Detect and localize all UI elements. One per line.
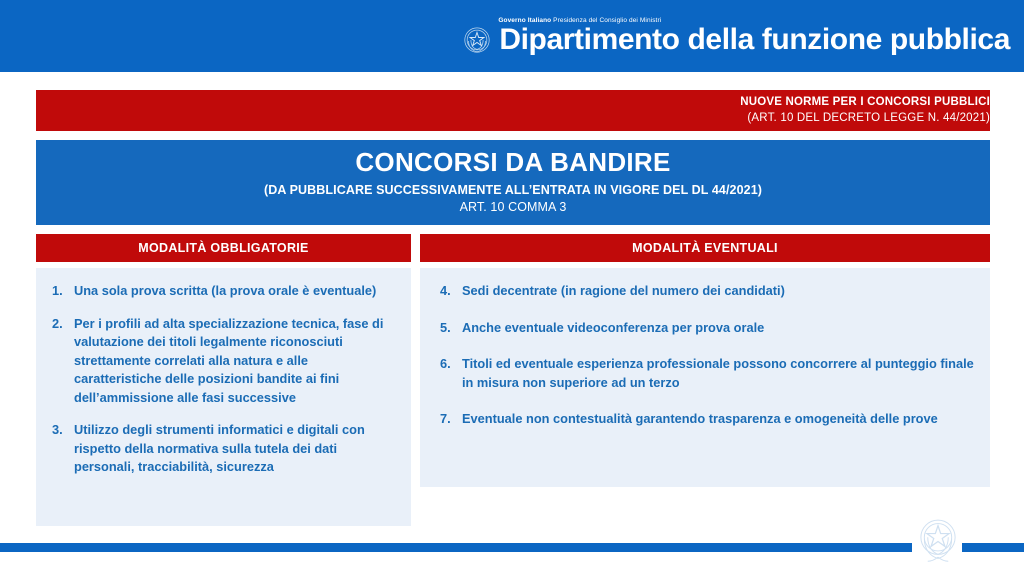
list-item-number: 3. — [44, 421, 74, 440]
mandatory-items-list: 1. Una sola prova scritta (la prova oral… — [44, 282, 399, 477]
column-header-mandatory: MODALITÀ OBBLIGATORIE — [36, 234, 411, 262]
law-reference-banner: NUOVE NORME PER I CONCORSI PUBBLICI (ART… — [36, 90, 990, 131]
list-item-number: 7. — [430, 410, 462, 429]
column-header-mandatory-label: MODALITÀ OBBLIGATORIE — [36, 234, 411, 262]
slide-title: CONCORSI DA BANDIRE — [355, 148, 670, 178]
list-item-text: Una sola prova scritta (la prova orale è… — [74, 282, 399, 301]
list-item-number: 4. — [430, 282, 462, 301]
list-item-text: Sedi decentrate (in ragione del numero d… — [462, 282, 976, 301]
list-item-text: Utilizzo degli strumenti informatici e d… — [74, 421, 399, 477]
header-title: Dipartimento della funzione pubblica — [499, 25, 1010, 55]
slide-subtitle: (DA PUBBLICARE SUCCESSIVAMENTE ALL’ENTRA… — [264, 182, 762, 200]
list-item-text: Anche eventuale videoconferenza per prov… — [462, 319, 976, 338]
law-reference-line2: (ART. 10 DEL DECRETO LEGGE N. 44/2021) — [747, 111, 990, 127]
list-item-number: 2. — [44, 315, 74, 334]
list-item-number: 6. — [430, 355, 462, 374]
list-item: 5. Anche eventuale videoconferenza per p… — [430, 319, 976, 338]
footer-bar-left — [0, 543, 912, 552]
list-item: 7. Eventuale non contestualità garantend… — [430, 410, 976, 429]
law-reference-line1: NUOVE NORME PER I CONCORSI PUBBLICI — [740, 95, 990, 111]
list-item-number: 5. — [430, 319, 462, 338]
column-header-optional: MODALITÀ EVENTUALI — [420, 234, 990, 262]
list-item-number: 1. — [44, 282, 74, 301]
list-item-text: Titoli ed eventuale esperienza professio… — [462, 355, 976, 392]
slide-title-banner: CONCORSI DA BANDIRE (DA PUBBLICARE SUCCE… — [36, 140, 990, 225]
footer-bar-right — [962, 543, 1024, 552]
list-item-text: Eventuale non contestualità garantendo t… — [462, 410, 976, 429]
list-item: 4. Sedi decentrate (in ragione del numer… — [430, 282, 976, 301]
header-title-row: Dipartimento della funzione pubblica — [462, 25, 1010, 55]
mandatory-modes-panel: 1. Una sola prova scritta (la prova oral… — [36, 268, 411, 526]
list-item: 2. Per i profili ad alta specializzazion… — [44, 315, 399, 408]
slide-article-reference: ART. 10 COMMA 3 — [460, 199, 567, 217]
optional-items-list: 4. Sedi decentrate (in ragione del numer… — [430, 282, 976, 429]
list-item: 3. Utilizzo degli strumenti informatici … — [44, 421, 399, 477]
optional-modes-panel: 4. Sedi decentrate (in ragione del numer… — [420, 268, 990, 487]
header-inner: Governo Italiano Presidenza del Consigli… — [462, 17, 1024, 55]
republic-emblem-icon — [462, 25, 492, 55]
column-header-optional-label: MODALITÀ EVENTUALI — [420, 234, 990, 262]
page-header: Governo Italiano Presidenza del Consigli… — [0, 0, 1024, 72]
list-item-text: Per i profili ad alta specializzazione t… — [74, 315, 399, 408]
list-item: 6. Titoli ed eventuale esperienza profes… — [430, 355, 976, 392]
list-item: 1. Una sola prova scritta (la prova oral… — [44, 282, 399, 301]
republic-emblem-footer-icon — [916, 514, 960, 566]
